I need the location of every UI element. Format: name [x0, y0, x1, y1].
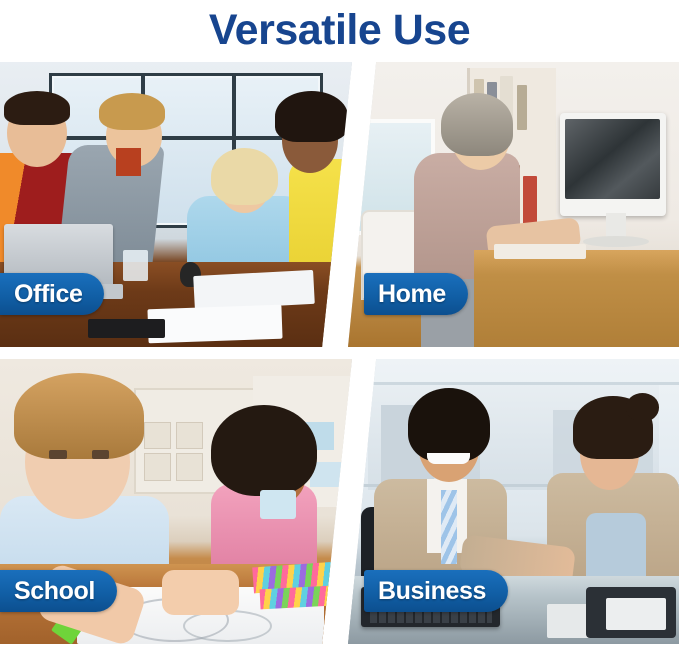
versatile-use-banner: Versatile Use [0, 0, 679, 648]
badge-office: Office [0, 273, 104, 315]
panel-school: School [0, 359, 352, 644]
panel-home: Home [348, 62, 679, 347]
panel-business: Business [348, 359, 679, 644]
panel-row-bottom: School [0, 359, 679, 644]
badge-school: School [0, 570, 117, 612]
panel-row-top: Office [0, 62, 679, 347]
badge-home: Home [364, 273, 468, 315]
badge-business: Business [364, 570, 508, 612]
page-title: Versatile Use [0, 1, 679, 59]
panel-office: Office [0, 62, 352, 347]
panel-grid: Office [0, 62, 679, 644]
